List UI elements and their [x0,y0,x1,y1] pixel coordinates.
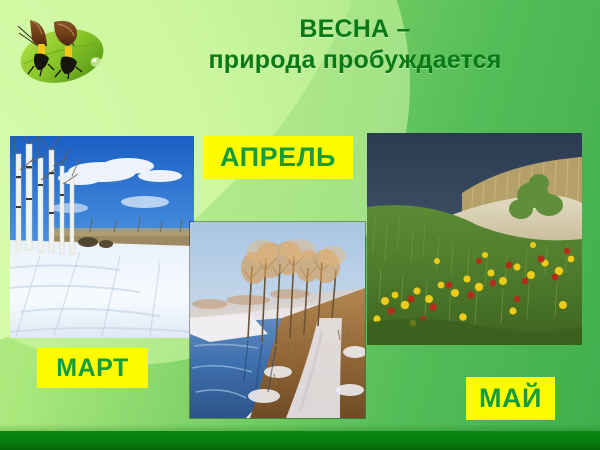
photo-march-snowy-field[interactable] [10,136,194,338]
footer-bar [0,431,600,450]
title-line-1: ВЕСНА – [120,14,590,45]
dewdrop-icon [91,57,102,67]
page-title: ВЕСНА – природа пробуждается [120,14,590,75]
footer-shadow [0,424,600,431]
label-aprel[interactable]: АПРЕЛЬ [203,136,353,179]
photo-may-flowering-meadow[interactable] [367,133,582,345]
title-line-2: природа пробуждается [120,45,590,76]
butterflies-on-leaf-decoration [8,6,116,94]
label-may[interactable]: МАЙ [466,377,555,420]
photo-april-spring-thaw-painting[interactable] [190,222,365,418]
label-mart[interactable]: МАРТ [37,348,148,388]
slide-canvas: ВЕСНА – природа пробуждается [0,0,600,450]
